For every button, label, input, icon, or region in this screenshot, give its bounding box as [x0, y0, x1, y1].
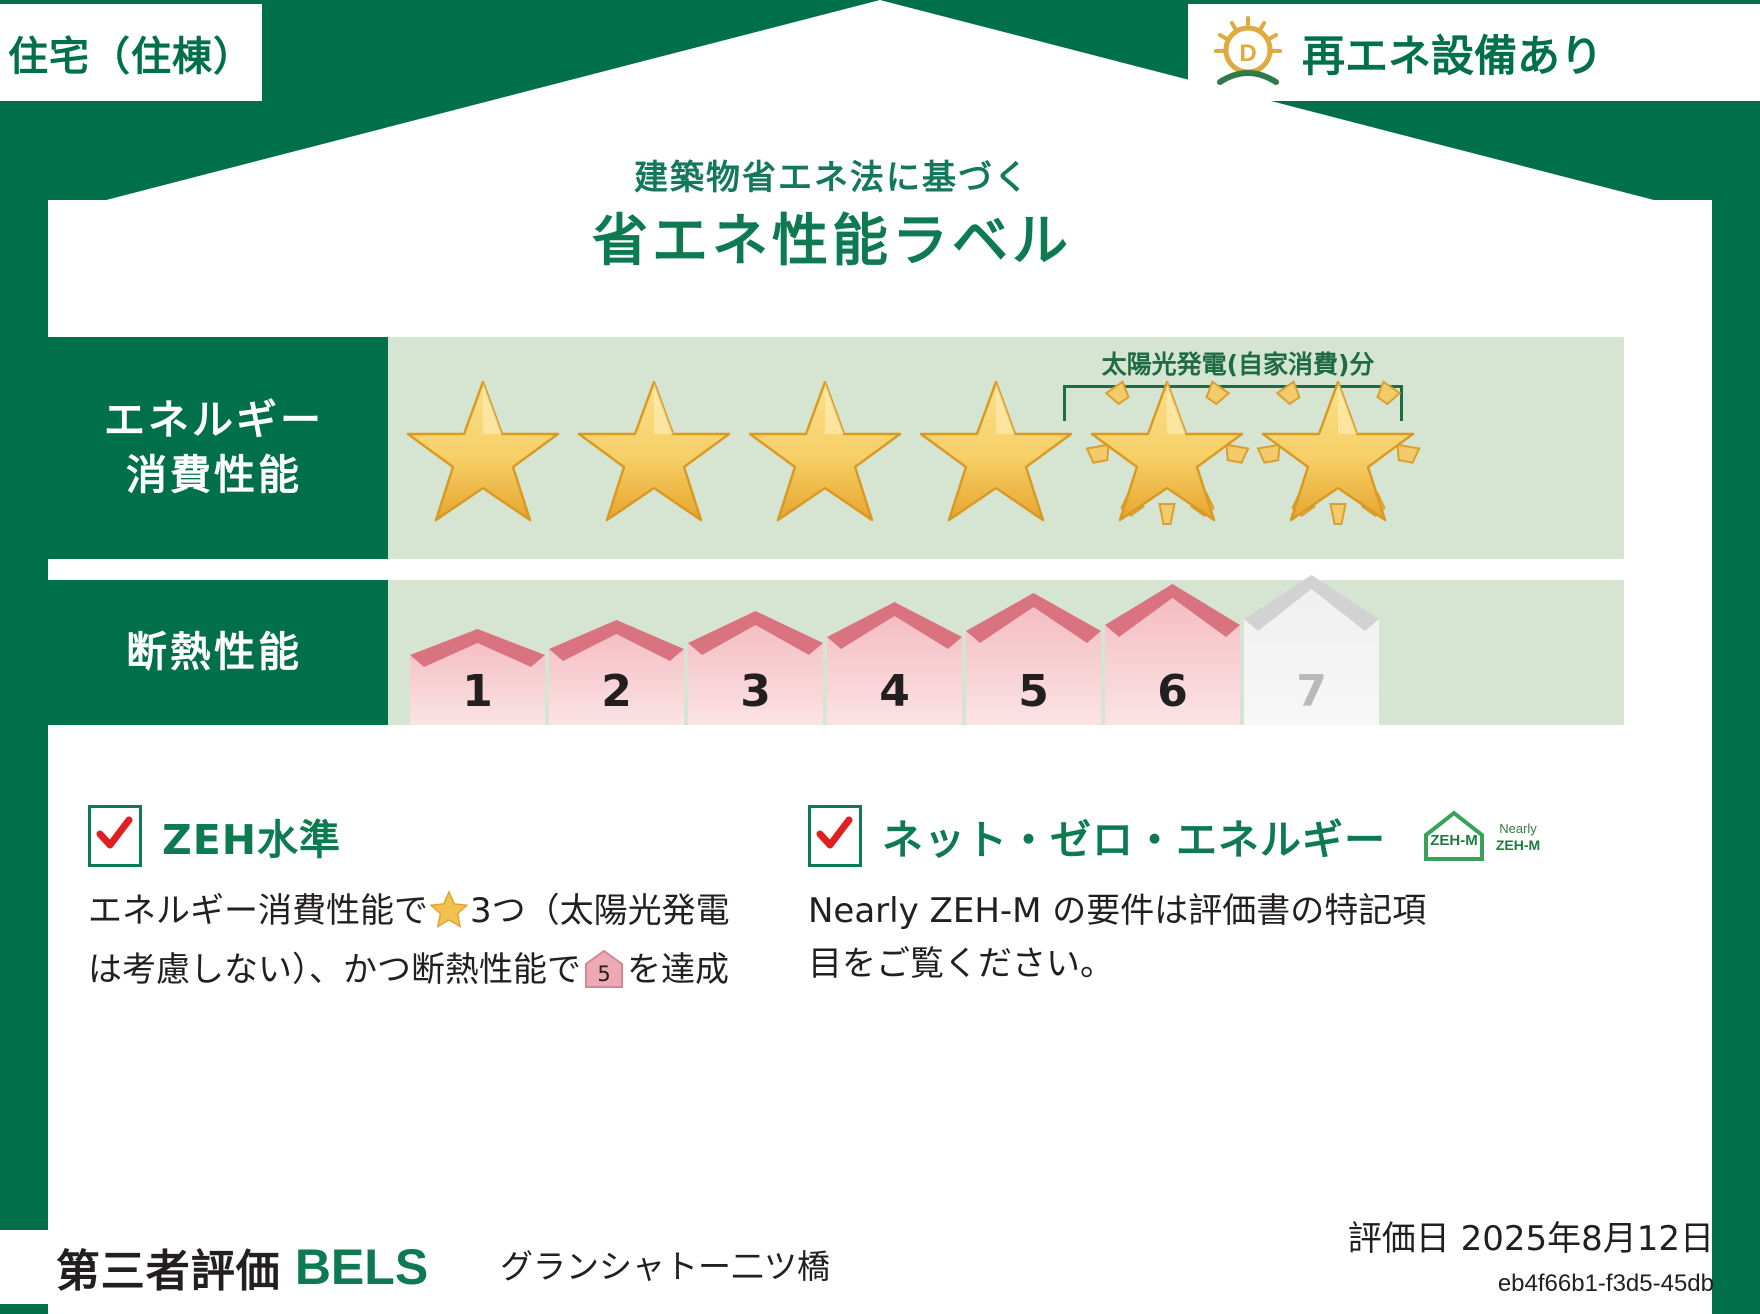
- evaluation-date: 評価日 2025年8月12日: [1348, 1211, 1714, 1260]
- third-party-label: 第三者評価: [56, 1235, 281, 1299]
- housing-type-label: 住宅（住棟）: [8, 24, 254, 82]
- inline-star-icon: [430, 890, 468, 944]
- insulation-level-number: 4: [827, 666, 962, 717]
- renewable-equipment-badge: D 再エネ設備あり: [1188, 4, 1760, 101]
- bels-label: BELS: [295, 1238, 428, 1296]
- inline-house-icon: 5: [584, 949, 624, 1005]
- insulation-level-6: 6: [1105, 584, 1240, 725]
- zehm-logo-line1: ZEH-M: [1430, 832, 1478, 849]
- insulation-level-3: 3: [688, 611, 823, 725]
- solar-sun-icon: D: [1210, 14, 1286, 91]
- bels-footer-badge: 第三者評価 BELS: [0, 1230, 484, 1304]
- zeh-checkbox[interactable]: [88, 805, 142, 867]
- property-name: グランシャトー二ツ橋: [500, 1240, 830, 1288]
- netzero-title: ネット・ゼロ・エネルギー: [882, 806, 1386, 866]
- housing-type-tag: 住宅（住棟）: [0, 4, 262, 101]
- insulation-level-number: 6: [1105, 666, 1240, 717]
- energy-star-3: [740, 368, 911, 528]
- zeh-desc-part2: 3つ（太陽光発電: [470, 891, 730, 931]
- insulation-level-4: 4: [827, 602, 962, 725]
- zeh-m-logo: ZEH-M Nearly ZEH-M: [1420, 805, 1550, 867]
- zeh-standard-section: ZEH水準 エネルギー消費性能で 3つ（太陽光発電 は考慮しない）、かつ断熱性能…: [88, 805, 768, 1004]
- page-title: 省エネ性能ラベル: [0, 196, 1664, 277]
- energy-star-4: [911, 368, 1082, 528]
- insulation-level-2: 2: [549, 620, 684, 725]
- energy-star-rating: [398, 337, 1634, 559]
- zeh-desc-part1: エネルギー消費性能で: [88, 891, 428, 931]
- insulation-level-number: 3: [688, 666, 823, 717]
- netzero-check-header: ネット・ゼロ・エネルギー ZEH-M Nearly ZEH-M: [808, 805, 1568, 867]
- insulation-performance-row: 断熱性能 1234567: [40, 580, 1624, 725]
- insulation-level-5: 5: [966, 593, 1101, 725]
- svg-text:5: 5: [597, 962, 610, 986]
- netzero-desc-line1: Nearly ZEH-M の要件は評価書の特記項: [808, 891, 1426, 931]
- zeh-desc-part4: を達成: [627, 950, 729, 990]
- zehm-logo-line2b: ZEH-M: [1496, 837, 1540, 853]
- zeh-check-header: ZEH水準: [88, 805, 768, 867]
- check-mark-icon: [814, 814, 854, 856]
- netzero-desc-line2: 目をご覧ください。: [808, 944, 1114, 984]
- insulation-level-number: 7: [1244, 666, 1379, 717]
- insulation-level-number: 5: [966, 666, 1101, 717]
- evaluation-id: eb4f66b1-f3d5-45db: [1498, 1270, 1714, 1298]
- netzero-description: Nearly ZEH-M の要件は評価書の特記項 目をご覧ください。: [808, 885, 1568, 990]
- insulation-level-1: 1: [410, 629, 545, 725]
- svg-text:D: D: [1239, 40, 1256, 67]
- zeh-description: エネルギー消費性能で 3つ（太陽光発電 は考慮しない）、かつ断熱性能で 5 を達…: [88, 885, 768, 1004]
- energy-rating-area: 太陽光発電(自家消費)分: [388, 337, 1624, 559]
- zeh-desc-part3: は考慮しない）、かつ断熱性能で: [88, 950, 581, 990]
- net-zero-energy-section: ネット・ゼロ・エネルギー ZEH-M Nearly ZEH-M Nearly Z…: [808, 805, 1568, 990]
- zehm-logo-line2a: Nearly: [1499, 821, 1537, 836]
- energy-star-1: [398, 368, 569, 528]
- insulation-rating-area: 1234567: [388, 580, 1624, 725]
- energy-performance-row: エネルギー 消費性能 太陽光発電(自家消費)分: [40, 337, 1624, 559]
- renewable-badge-label: 再エネ設備あり: [1302, 22, 1603, 84]
- energy-performance-label: エネルギー 消費性能: [40, 337, 388, 559]
- zeh-title: ZEH水準: [162, 806, 341, 866]
- energy-label-line1: エネルギー: [104, 393, 324, 448]
- insulation-label-text: 断熱性能: [126, 625, 302, 680]
- energy-star-5: [1082, 368, 1253, 528]
- netzero-checkbox[interactable]: [808, 805, 862, 867]
- energy-label-line2: 消費性能: [126, 448, 302, 503]
- check-mark-icon: [94, 814, 134, 856]
- insulation-level-7: 7: [1244, 575, 1379, 725]
- energy-star-6: [1253, 368, 1424, 528]
- insulation-level-number: 2: [549, 666, 684, 717]
- energy-star-2: [569, 368, 740, 528]
- insulation-performance-label: 断熱性能: [40, 580, 388, 725]
- label-subtitle: 建築物省エネ法に基づく: [0, 150, 1664, 199]
- insulation-level-number: 1: [410, 666, 545, 717]
